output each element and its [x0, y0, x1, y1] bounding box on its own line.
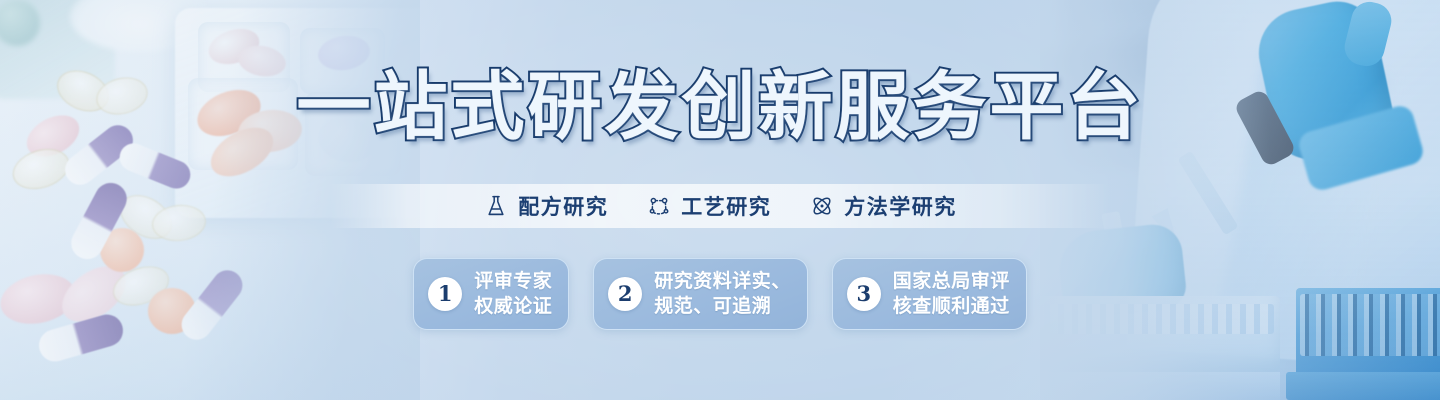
service-tag-label: 方法学研究 — [844, 191, 957, 221]
atom-icon — [809, 193, 835, 219]
service-tag-label: 配方研究 — [518, 191, 608, 221]
service-tag-label: 工艺研究 — [681, 191, 771, 221]
feature-line-2: 规范、可追溯 — [654, 294, 791, 319]
banner-content: 一站式研发创新服务平台 配方研究 — [0, 0, 1440, 400]
feature-card-3[interactable]: 3 国家总局审评 核查顺利通过 — [832, 258, 1027, 330]
feature-line-2: 核查顺利通过 — [893, 294, 1010, 319]
service-tag-methodology[interactable]: 方法学研究 — [809, 191, 957, 221]
service-tag-process[interactable]: 工艺研究 — [646, 191, 771, 221]
feature-text: 研究资料详实、 规范、可追溯 — [654, 269, 791, 319]
service-tag-formulation[interactable]: 配方研究 — [483, 191, 608, 221]
feature-line-2: 权威论证 — [474, 294, 552, 319]
feature-cards: 1 评审专家 权威论证 2 研究资料详实、 规范、可追溯 3 国家总局审评 核查… — [0, 258, 1440, 330]
feature-number-badge: 2 — [608, 277, 642, 311]
promo-banner: 一站式研发创新服务平台 配方研究 — [0, 0, 1440, 400]
feature-number-badge: 3 — [847, 277, 881, 311]
page-title: 一站式研发创新服务平台 — [0, 62, 1440, 152]
feature-number-badge: 1 — [428, 277, 462, 311]
feature-line-1: 评审专家 — [474, 269, 552, 294]
feature-line-1: 研究资料详实、 — [654, 269, 791, 294]
feature-text: 国家总局审评 核查顺利通过 — [893, 269, 1010, 319]
service-tags-bar: 配方研究 工艺研究 — [330, 184, 1110, 228]
feature-text: 评审专家 权威论证 — [474, 269, 552, 319]
feature-card-2[interactable]: 2 研究资料详实、 规范、可追溯 — [593, 258, 808, 330]
feature-line-1: 国家总局审评 — [893, 269, 1010, 294]
feature-card-1[interactable]: 1 评审专家 权威论证 — [413, 258, 569, 330]
molecule-icon — [646, 193, 672, 219]
flask-icon — [483, 193, 509, 219]
